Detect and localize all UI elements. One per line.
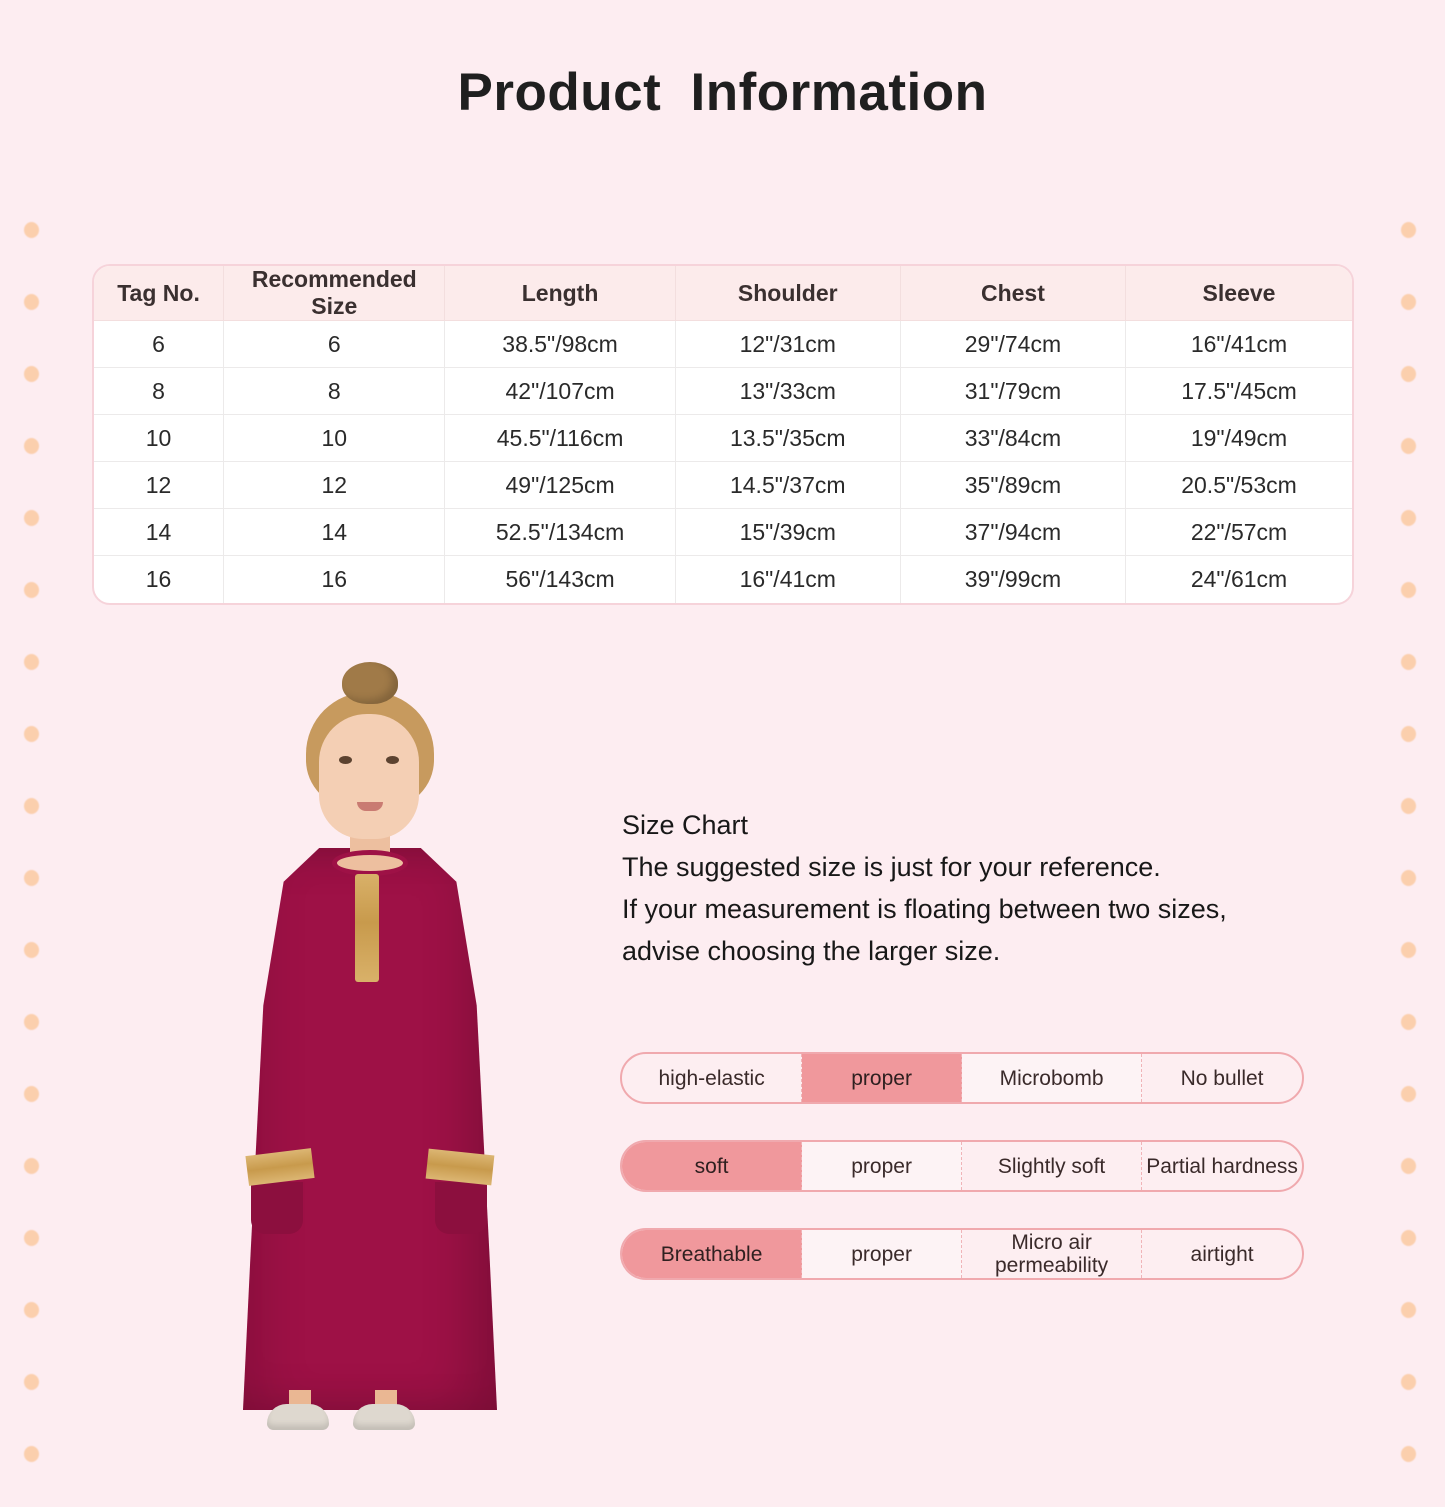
property-bar-elasticity: high-elastic proper Microbomb No bullet [620, 1052, 1304, 1104]
decorative-dot [24, 1158, 39, 1174]
size-chart-line-2: The suggested size is just for your refe… [622, 846, 1322, 888]
size-table: Tag No. Recommended Size Length Shoulder… [94, 266, 1352, 603]
segment-proper[interactable]: proper [802, 1230, 962, 1278]
segment-partial-hardness[interactable]: Partial hardness [1142, 1142, 1302, 1190]
cell-sleeve: 17.5"/45cm [1126, 368, 1352, 415]
hair-bun [342, 662, 398, 704]
decorative-dots-left [18, 62, 58, 1507]
table-row: 6 6 38.5"/98cm 12"/31cm 29"/74cm 16"/41c… [94, 321, 1352, 368]
decorative-dot [1401, 294, 1416, 310]
column-header-chest: Chest [900, 266, 1125, 321]
decorative-dot [1401, 1302, 1416, 1318]
decorative-dot [1401, 222, 1416, 238]
decorative-dot [24, 1374, 39, 1390]
cell-length: 42"/107cm [445, 368, 675, 415]
decorative-dot [24, 1014, 39, 1030]
cell-rec-size: 12 [224, 462, 445, 509]
cell-chest: 31"/79cm [900, 368, 1125, 415]
decorative-dot [24, 1086, 39, 1102]
cell-rec-size: 14 [224, 509, 445, 556]
face [319, 714, 419, 839]
decorative-dot [1401, 1230, 1416, 1246]
decorative-dot [24, 726, 39, 742]
cell-rec-size: 10 [224, 415, 445, 462]
decorative-dot [1401, 582, 1416, 598]
decorative-dot [24, 294, 39, 310]
column-header-sleeve: Sleeve [1126, 266, 1352, 321]
decorative-dot [1401, 1446, 1416, 1462]
cell-sleeve: 24"/61cm [1126, 556, 1352, 603]
sleeve-right [435, 1182, 487, 1234]
cell-tag-no: 6 [94, 321, 224, 368]
cell-chest: 37"/94cm [900, 509, 1125, 556]
cell-shoulder: 13"/33cm [675, 368, 900, 415]
size-chart-line-3: If your measurement is floating between … [622, 888, 1322, 930]
cell-shoulder: 15"/39cm [675, 509, 900, 556]
segment-proper[interactable]: proper [802, 1054, 962, 1102]
model-photo [205, 652, 550, 1442]
table-row: 8 8 42"/107cm 13"/33cm 31"/79cm 17.5"/45… [94, 368, 1352, 415]
dress-collar [332, 850, 408, 876]
cell-chest: 29"/74cm [900, 321, 1125, 368]
decorative-dot [1401, 1086, 1416, 1102]
table-row: 12 12 49"/125cm 14.5"/37cm 35"/89cm 20.5… [94, 462, 1352, 509]
decorative-dot [24, 798, 39, 814]
column-header-tag-no: Tag No. [94, 266, 224, 321]
decorative-dot [24, 942, 39, 958]
cell-shoulder: 13.5"/35cm [675, 415, 900, 462]
cell-shoulder: 16"/41cm [675, 556, 900, 603]
sleeve-left [251, 1182, 303, 1234]
segment-breathable[interactable]: Breathable [622, 1230, 802, 1278]
gold-placket-trim [355, 874, 379, 982]
size-table-header: Tag No. Recommended Size Length Shoulder… [94, 266, 1352, 321]
decorative-dot [1401, 726, 1416, 742]
property-bars: high-elastic proper Microbomb No bullet … [620, 1052, 1304, 1316]
decorative-dot [24, 1446, 39, 1462]
decorative-dots-right [1387, 62, 1427, 1507]
decorative-dot [1401, 1374, 1416, 1390]
cell-shoulder: 14.5"/37cm [675, 462, 900, 509]
segment-microbomb[interactable]: Microbomb [962, 1054, 1142, 1102]
decorative-dot [24, 1302, 39, 1318]
cell-tag-no: 8 [94, 368, 224, 415]
decorative-dot [24, 1230, 39, 1246]
decorative-dot [24, 510, 39, 526]
cell-chest: 39"/99cm [900, 556, 1125, 603]
cell-sleeve: 16"/41cm [1126, 321, 1352, 368]
cell-length: 56"/143cm [445, 556, 675, 603]
cell-rec-size: 16 [224, 556, 445, 603]
cell-tag-no: 10 [94, 415, 224, 462]
table-header-row: Tag No. Recommended Size Length Shoulder… [94, 266, 1352, 321]
segment-micro-air-permeability[interactable]: Micro air permeability [962, 1230, 1142, 1278]
cell-shoulder: 12"/31cm [675, 321, 900, 368]
decorative-dot [1401, 1014, 1416, 1030]
segment-no-bullet[interactable]: No bullet [1142, 1054, 1302, 1102]
eye-left [339, 756, 352, 764]
shoe-left [267, 1404, 329, 1430]
page-title: Product Information [0, 62, 1445, 123]
cell-tag-no: 14 [94, 509, 224, 556]
cell-sleeve: 19"/49cm [1126, 415, 1352, 462]
cell-sleeve: 20.5"/53cm [1126, 462, 1352, 509]
size-table-container: Tag No. Recommended Size Length Shoulder… [92, 264, 1354, 605]
segment-airtight[interactable]: airtight [1142, 1230, 1302, 1278]
decorative-dot [24, 582, 39, 598]
table-row: 14 14 52.5"/134cm 15"/39cm 37"/94cm 22"/… [94, 509, 1352, 556]
decorative-dot [1401, 942, 1416, 958]
table-row: 16 16 56"/143cm 16"/41cm 39"/99cm 24"/61… [94, 556, 1352, 603]
cell-rec-size: 8 [224, 368, 445, 415]
cell-length: 49"/125cm [445, 462, 675, 509]
segment-soft[interactable]: soft [622, 1142, 802, 1190]
cell-chest: 33"/84cm [900, 415, 1125, 462]
decorative-dot [24, 654, 39, 670]
decorative-dot [1401, 870, 1416, 886]
decorative-dot [24, 222, 39, 238]
decorative-dot [1401, 510, 1416, 526]
decorative-dot [1401, 366, 1416, 382]
size-chart-line-4: advise choosing the larger size. [622, 930, 1322, 972]
segment-high-elastic[interactable]: high-elastic [622, 1054, 802, 1102]
column-header-shoulder: Shoulder [675, 266, 900, 321]
decorative-dot [24, 438, 39, 454]
decorative-dot [1401, 654, 1416, 670]
cell-length: 38.5"/98cm [445, 321, 675, 368]
shoe-right [353, 1404, 415, 1430]
property-bar-breathability: Breathable proper Micro air permeability… [620, 1228, 1304, 1280]
decorative-dot [1401, 798, 1416, 814]
decorative-dot [24, 366, 39, 382]
column-header-recommended-size: Recommended Size [224, 266, 445, 321]
cell-tag-no: 12 [94, 462, 224, 509]
cell-tag-no: 16 [94, 556, 224, 603]
size-table-body: 6 6 38.5"/98cm 12"/31cm 29"/74cm 16"/41c… [94, 321, 1352, 603]
size-chart-heading: Size Chart [622, 804, 1322, 846]
cell-sleeve: 22"/57cm [1126, 509, 1352, 556]
eye-right [386, 756, 399, 764]
segment-slightly-soft[interactable]: Slightly soft [962, 1142, 1142, 1190]
cell-chest: 35"/89cm [900, 462, 1125, 509]
decorative-dot [24, 870, 39, 886]
table-row: 10 10 45.5"/116cm 13.5"/35cm 33"/84cm 19… [94, 415, 1352, 462]
cell-rec-size: 6 [224, 321, 445, 368]
property-bar-softness: soft proper Slightly soft Partial hardne… [620, 1140, 1304, 1192]
cell-length: 45.5"/116cm [445, 415, 675, 462]
size-chart-note: Size Chart The suggested size is just fo… [622, 804, 1322, 972]
decorative-dot [1401, 438, 1416, 454]
column-header-length: Length [445, 266, 675, 321]
segment-proper[interactable]: proper [802, 1142, 962, 1190]
cell-length: 52.5"/134cm [445, 509, 675, 556]
decorative-dot [1401, 1158, 1416, 1174]
